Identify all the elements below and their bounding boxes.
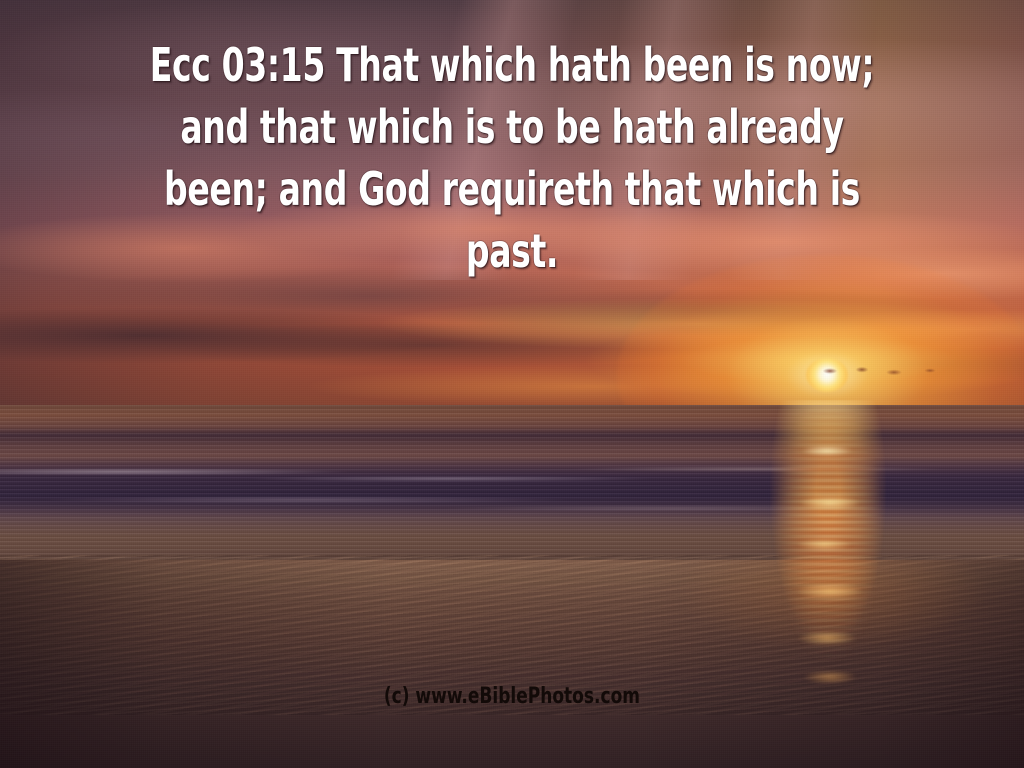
watermark-label: (c) www.eBiblePhotos.com xyxy=(384,686,640,708)
copyright-watermark: (c) www.eBiblePhotos.com xyxy=(0,686,1024,708)
verse-line-4: past. xyxy=(102,220,921,282)
verse-line-3: been; and God requireth that which is xyxy=(102,158,921,220)
cloud-speck-row xyxy=(770,360,970,382)
verse-line-1: Ecc 03:15 That which hath been is now; xyxy=(102,34,921,96)
verse-text-block: Ecc 03:15 That which hath been is now; a… xyxy=(0,34,1024,282)
verse-line-2: and that which is to be hath already xyxy=(102,96,921,158)
sunset-verse-image: Ecc 03:15 That which hath been is now; a… xyxy=(0,0,1024,768)
